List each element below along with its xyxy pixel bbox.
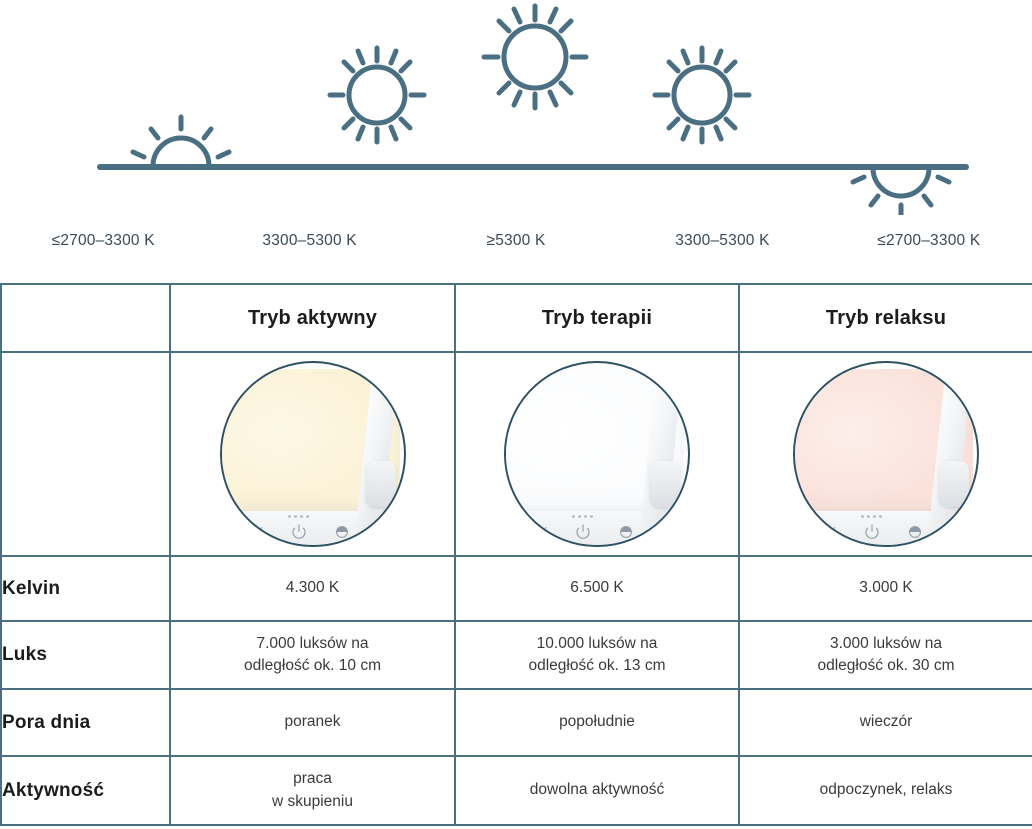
colour-temperature-infographic: ≤2700–3300 K 3300–5300 K ≥5300 K 3300–53…	[0, 0, 1032, 829]
lamp-stand-knob	[650, 461, 680, 507]
led-dot	[590, 515, 593, 518]
lamp-stand-knob	[366, 461, 396, 507]
row-label-aktywnosc: Aktywność	[1, 756, 170, 825]
table-row-aktywnosc: Aktywność pracaw skupieniu dowolna aktyw…	[1, 756, 1032, 825]
cell-aktywnosc-active: pracaw skupieniu	[170, 756, 455, 825]
sun-icon-morning	[330, 48, 424, 142]
table-header-row: Tryb aktywny Tryb terapii Tryb relaksu	[1, 284, 1032, 352]
lamp-photo-therapy	[504, 361, 690, 547]
led-dot	[861, 515, 864, 518]
lamp-control-panel	[819, 515, 939, 547]
led-dot	[300, 515, 303, 518]
column-header-therapy: Tryb terapii	[455, 284, 739, 352]
cell-pora-active: poranek	[170, 689, 455, 756]
cell-luks-therapy: 10.000 luksów naodległość ok. 13 cm	[455, 621, 739, 689]
table-row-kelvin: Kelvin 4.300 K 6.500 K 3.000 K	[1, 556, 1032, 621]
table-row-luks: Luks 7.000 luksów naodległość ok. 10 cm …	[1, 621, 1032, 689]
light-dome-button-icon[interactable]	[334, 524, 350, 540]
daylight-arc-diagram: ≤2700–3300 K 3300–5300 K ≥5300 K 3300–53…	[0, 0, 1032, 270]
led-indicator-row	[288, 515, 309, 518]
table-row-photos	[1, 352, 1032, 556]
column-header-relax: Tryb relaksu	[739, 284, 1032, 352]
led-indicator-row	[572, 515, 593, 518]
led-indicator-row	[861, 515, 882, 518]
table-row-pora-dnia: Pora dnia poranek popołudnie wieczór	[1, 689, 1032, 756]
cell-aktywnosc-therapy: dowolna aktywność	[455, 756, 739, 825]
lamp-photo-cell-therapy	[455, 352, 739, 556]
cell-kelvin-therapy: 6.500 K	[455, 556, 739, 621]
temperature-label-row: ≤2700–3300 K 3300–5300 K ≥5300 K 3300–53…	[0, 232, 1032, 250]
cell-luks-relax: 3.000 luksów naodległość ok. 30 cm	[739, 621, 1032, 689]
sunrise-half-sun-icon	[133, 117, 229, 166]
brightness-sun-icon	[246, 523, 266, 541]
light-dome-button-icon[interactable]	[618, 524, 634, 540]
row-label-pora-dnia: Pora dnia	[1, 689, 170, 756]
led-dot	[873, 515, 876, 518]
led-dot	[306, 515, 309, 518]
led-dot	[578, 515, 581, 518]
sun-icon-noon	[484, 6, 586, 108]
cell-luks-active: 7.000 luksów naodległość ok. 10 cm	[170, 621, 455, 689]
power-button-icon[interactable]	[863, 523, 881, 541]
cell-kelvin-relax: 3.000 K	[739, 556, 1032, 621]
led-dot	[879, 515, 882, 518]
sun-arc-svg	[0, 0, 1032, 215]
sunset-half-sun-icon	[853, 168, 949, 215]
led-dot	[294, 515, 297, 518]
lamp-stand-knob	[939, 461, 969, 507]
lamp-photo-cell-active	[170, 352, 455, 556]
temp-label-sunset: ≤2700–3300 K	[826, 232, 1032, 250]
lamp-photo-relax	[793, 361, 979, 547]
row-label-luks: Luks	[1, 621, 170, 689]
lamp-photo-cell-relax	[739, 352, 1032, 556]
cell-pora-relax: wieczór	[739, 689, 1032, 756]
led-dot	[584, 515, 587, 518]
table-corner-cell	[1, 284, 170, 352]
mode-comparison-table: Tryb aktywny Tryb terapii Tryb relaksu	[0, 283, 1032, 826]
led-dot	[572, 515, 575, 518]
led-dot	[867, 515, 870, 518]
lamp-control-panel	[530, 515, 650, 547]
temp-label-morning: 3300–5300 K	[206, 232, 412, 250]
temp-label-noon: ≥5300 K	[413, 232, 619, 250]
temp-label-afternoon: 3300–5300 K	[619, 232, 825, 250]
lamp-control-panel	[246, 515, 366, 547]
led-dot	[288, 515, 291, 518]
brightness-sun-icon	[819, 523, 839, 541]
row-label-kelvin: Kelvin	[1, 556, 170, 621]
cell-aktywnosc-relax: odpoczynek, relaks	[739, 756, 1032, 825]
lamp-photo-active	[220, 361, 406, 547]
power-button-icon[interactable]	[574, 523, 592, 541]
brightness-sun-icon	[530, 523, 550, 541]
cell-kelvin-active: 4.300 K	[170, 556, 455, 621]
light-dome-button-icon[interactable]	[907, 524, 923, 540]
sun-icon-afternoon	[655, 48, 749, 142]
column-header-active: Tryb aktywny	[170, 284, 455, 352]
photo-row-label	[1, 352, 170, 556]
temp-label-sunrise: ≤2700–3300 K	[0, 232, 206, 250]
cell-pora-therapy: popołudnie	[455, 689, 739, 756]
power-button-icon[interactable]	[290, 523, 308, 541]
